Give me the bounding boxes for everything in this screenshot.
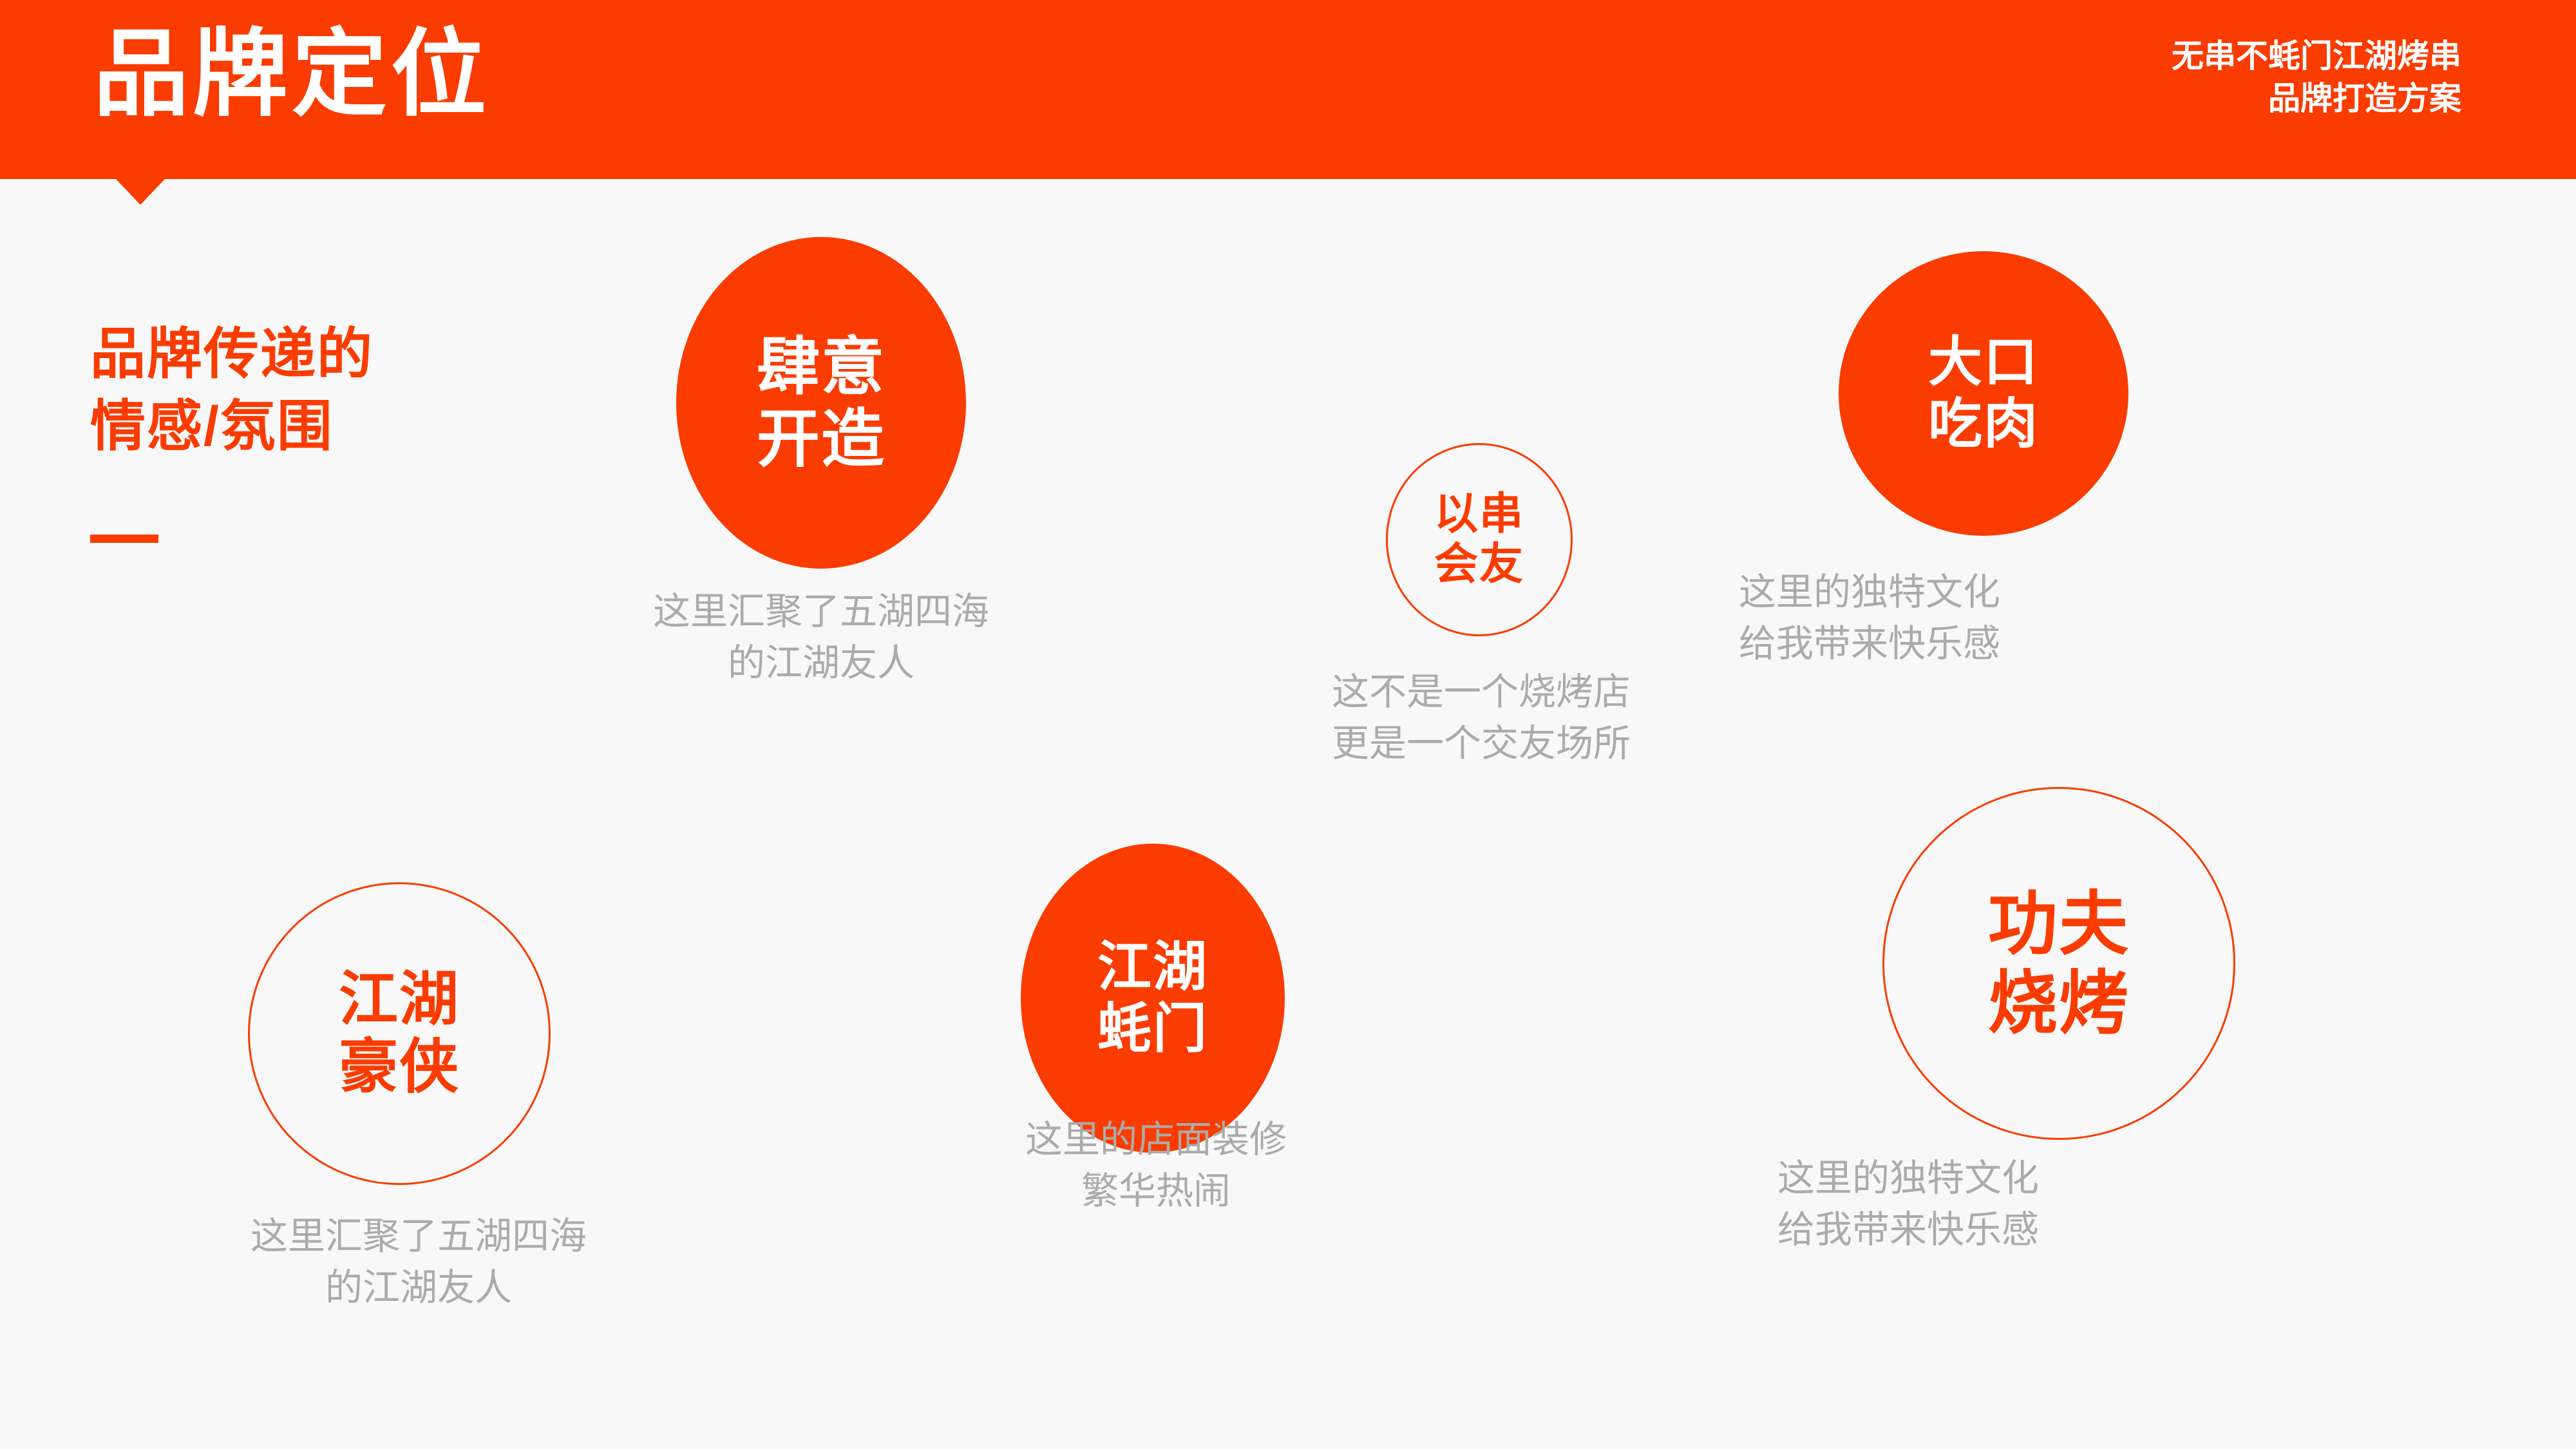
- deck-subtitle: 无串不蚝门江湖烤串 品牌打造方案: [2172, 35, 2461, 120]
- caption-line-1: 这里的店面装修: [792, 1114, 1520, 1166]
- caption-line-1: 这里的独特文化: [1777, 1153, 2421, 1204]
- keyword-line-1: 功夫: [1988, 884, 2130, 963]
- section-label-underline: [90, 535, 158, 543]
- keyword-circle-dakou-chirou[interactable]: 大口 吃肉: [1839, 251, 2128, 536]
- keyword-line-2: 豪侠: [339, 1034, 460, 1101]
- keyword-line-2: 烧烤: [1988, 963, 2130, 1043]
- deck-subtitle-line-2: 品牌打造方案: [2172, 77, 2461, 120]
- caption-line-2: 的江湖友人: [451, 638, 1191, 689]
- caption-line-2: 更是一个交友场所: [1159, 718, 1803, 770]
- keyword-line-1: 江湖: [339, 966, 460, 1034]
- section-label: 品牌传递的 情感/氛围: [90, 319, 374, 463]
- slide-canvas: 品牌定位 无串不蚝门江湖烤串 品牌打造方案 品牌传递的 情感/氛围 肆意 开造 …: [0, 0, 2576, 1449]
- caption-line-2: 的江湖友人: [97, 1262, 741, 1314]
- section-label-line-1: 品牌传递的: [90, 319, 374, 391]
- keyword-line-2: 蚝门: [1097, 998, 1208, 1060]
- keyword-line-1: 肆意: [757, 331, 885, 403]
- caption-line-1: 这里的独特文化: [1739, 567, 2383, 618]
- node-caption: 这里的店面装修 繁华热闹: [792, 1114, 1520, 1217]
- node-caption: 这里汇聚了五湖四海 的江湖友人: [97, 1211, 741, 1314]
- caption-line-1: 这里汇聚了五湖四海: [451, 586, 1191, 638]
- keyword-circle-siyi-kaizao[interactable]: 肆意 开造: [676, 237, 966, 569]
- keyword-line-2: 会友: [1434, 540, 1524, 590]
- node-caption: 这里的独特文化 给我带来快乐感: [1739, 567, 2383, 670]
- caption-line-1: 这里汇聚了五湖四海: [97, 1211, 741, 1262]
- keyword-circle-jianghu-haomen[interactable]: 江湖 蚝门: [1021, 844, 1285, 1153]
- keyword-circle-jianghu-haoxia[interactable]: 江湖 豪侠: [248, 882, 551, 1185]
- caption-line-2: 给我带来快乐感: [1777, 1204, 2421, 1256]
- keyword-circle-gongfu-shaokao[interactable]: 功夫 烧烤: [1882, 787, 2235, 1140]
- deck-subtitle-line-1: 无串不蚝门江湖烤串: [2172, 35, 2461, 77]
- caption-line-1: 这不是一个烧烤店: [1159, 667, 1803, 718]
- caption-line-2: 给我带来快乐感: [1739, 618, 2383, 670]
- node-caption: 这里汇聚了五湖四海 的江湖友人: [451, 586, 1191, 689]
- keyword-line-1: 江湖: [1097, 936, 1208, 998]
- keyword-line-2: 吃肉: [1928, 393, 2039, 455]
- keyword-line-2: 开造: [757, 403, 885, 475]
- keyword-line-1: 以串: [1434, 489, 1524, 540]
- keyword-circle-yichuan-huiyou[interactable]: 以串 会友: [1386, 443, 1573, 636]
- section-label-line-2: 情感/氛围: [90, 391, 374, 463]
- keyword-line-1: 大口: [1928, 332, 2039, 393]
- node-caption: 这里的独特文化 给我带来快乐感: [1777, 1153, 2421, 1256]
- node-caption: 这不是一个烧烤店 更是一个交友场所: [1159, 667, 1803, 770]
- page-title: 品牌定位: [93, 27, 490, 122]
- caption-line-2: 繁华热闹: [792, 1166, 1520, 1217]
- header-pointer-notch: [116, 179, 165, 205]
